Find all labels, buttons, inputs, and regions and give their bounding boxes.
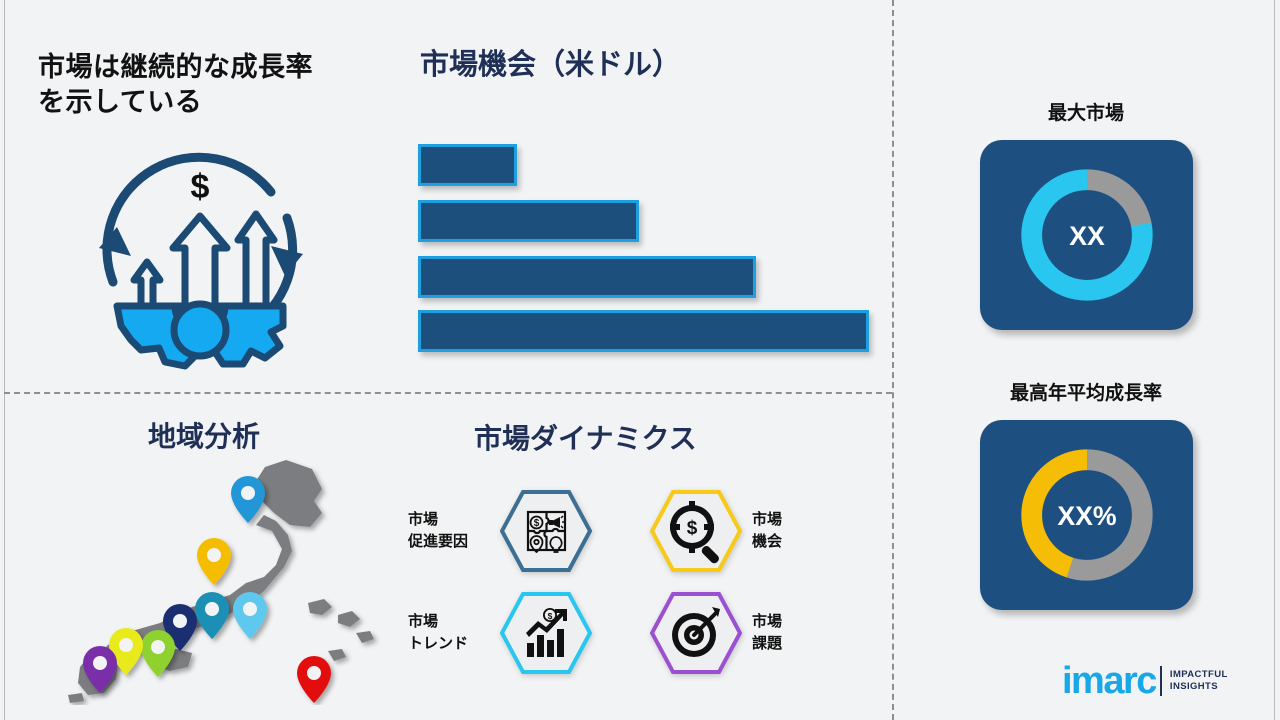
bar-1 [418, 144, 517, 186]
logo-tagline: IMPACTFUL INSIGHTS [1170, 669, 1228, 693]
svg-text:$: $ [548, 611, 553, 621]
pin-chubu [195, 592, 229, 639]
logo-wordmark: imarc [1062, 660, 1156, 702]
bar-2 [418, 200, 639, 242]
opportunity-bar-chart [418, 144, 888, 354]
highest-cagr-title: 最高年平均成長率 [956, 378, 1216, 405]
highest-cagr-value: XX% [1057, 501, 1116, 531]
largest-market-donut: XX [1008, 156, 1166, 314]
target-arrow-icon [650, 591, 742, 675]
magnifier-dollar-icon: $ [650, 489, 742, 573]
dynamics-item-opportunity[interactable]: $ 市場 機会 [650, 486, 860, 576]
svg-text:$: $ [191, 168, 210, 206]
dynamics-label-opportunity: 市場 機会 [752, 509, 844, 553]
highest-cagr-card: XX% [980, 420, 1193, 610]
region-title: 地域分析 [148, 420, 378, 454]
growth-title: 市場は継続的な成長率 を示している [38, 50, 388, 119]
right-border-line [1274, 0, 1275, 720]
dynamics-item-drivers[interactable]: 市場 促進要因 $ [408, 486, 608, 576]
opportunity-title: 市場機会（米ドル） [420, 48, 880, 83]
dynamics-label-drivers: 市場 促進要因 [408, 509, 500, 553]
logo-tagline-line1: IMPACTFUL [1170, 669, 1228, 681]
growth-gear-arrows-icon: $ [75, 130, 325, 370]
highest-cagr-donut: XX% [1008, 436, 1166, 594]
dynamics-item-challenges[interactable]: 市場 課題 [650, 588, 860, 678]
dynamics-label-trends: 市場 トレンド [408, 611, 500, 655]
pin-hokkaido [231, 476, 265, 523]
dynamics-title: 市場ダイナミクス [474, 422, 804, 456]
largest-market-card: XX [980, 140, 1193, 330]
pin-okinawa [297, 656, 331, 703]
vertical-divider [892, 0, 894, 720]
puzzle-pieces-icon: $ [500, 489, 592, 573]
logo-tagline-line2: INSIGHTS [1170, 681, 1228, 693]
bar-chart-growth-icon: $ [500, 591, 592, 675]
dynamics-label-challenges: 市場 課題 [752, 611, 844, 655]
pin-tohoku [197, 538, 231, 585]
bar-3 [418, 256, 756, 298]
logo-divider [1160, 666, 1162, 696]
largest-market-value: XX [1069, 221, 1105, 251]
dynamics-item-trends[interactable]: 市場 トレンド $ [408, 588, 608, 678]
svg-text:$: $ [687, 518, 698, 539]
slide-canvas: 市場は継続的な成長率 を示している $ [0, 0, 1280, 720]
left-border-line [4, 0, 5, 720]
japan-map [60, 455, 390, 705]
horizontal-divider [4, 392, 892, 394]
imarc-logo: imarc IMPACTFUL INSIGHTS [1062, 660, 1252, 702]
pin-kanto [233, 592, 267, 639]
largest-market-title: 最大市場 [956, 98, 1216, 125]
bar-4 [418, 310, 869, 352]
